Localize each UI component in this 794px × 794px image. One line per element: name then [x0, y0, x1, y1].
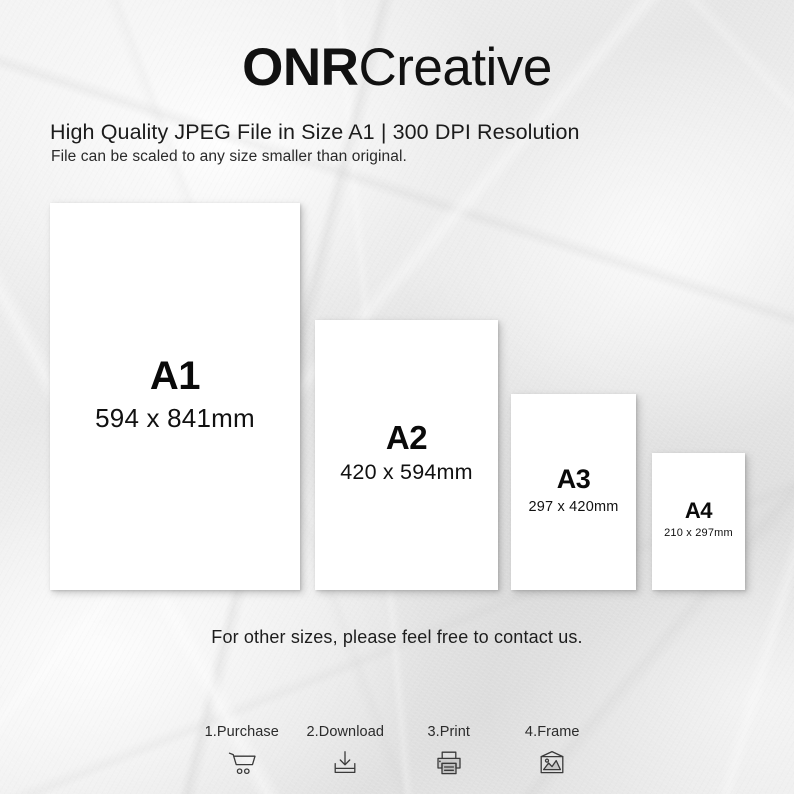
size-sheet-a1-labels: A1 594 x 841mm [95, 356, 255, 431]
brand-logo-light: Creative [358, 38, 551, 97]
size-sheet-a4-dims: 210 x 297mm [664, 528, 733, 539]
step-print: 3.Print [397, 723, 501, 778]
size-sheet-a2-name: A2 [386, 421, 427, 454]
size-sheet-a1: A1 594 x 841mm [50, 203, 300, 590]
download-tray-icon [328, 748, 362, 778]
contact-note: For other sizes, please feel free to con… [0, 625, 794, 649]
step-purchase: 1.Purchase [190, 723, 294, 778]
shopping-cart-icon [225, 748, 259, 778]
step-download: 2.Download [294, 723, 398, 778]
file-spec-headline: High Quality JPEG File in Size A1 | 300 … [50, 119, 580, 146]
framed-picture-icon [535, 748, 569, 778]
size-sheet-a1-dims: 594 x 841mm [95, 405, 255, 431]
step-purchase-label: 1.Purchase [205, 723, 279, 741]
steps-row: 1.Purchase 2.Download 3.P [190, 723, 604, 778]
printer-icon [432, 748, 466, 778]
size-sheet-a4-labels: A4 210 x 297mm [664, 500, 733, 539]
brand-logo-bold: ONR [242, 38, 358, 97]
size-sheet-a2: A2 420 x 594mm [315, 320, 498, 590]
size-sheet-a3-name: A3 [557, 466, 591, 493]
file-scale-note: File can be scaled to any size smaller t… [51, 146, 407, 167]
size-sheet-a1-name: A1 [150, 356, 200, 396]
size-sheet-a3-dims: 297 x 420mm [528, 500, 618, 515]
step-frame-label: 4.Frame [525, 723, 580, 741]
size-sheet-a3: A3 297 x 420mm [511, 394, 636, 590]
size-sheet-a4-name: A4 [685, 500, 712, 522]
size-sheet-a3-labels: A3 297 x 420mm [528, 466, 618, 515]
poster-canvas: ONRCreative High Quality JPEG File in Si… [0, 0, 794, 794]
size-sheet-a4: A4 210 x 297mm [652, 453, 745, 590]
size-sheet-a2-dims: 420 x 594mm [340, 462, 472, 484]
brand-logo: ONRCreative [0, 38, 794, 98]
step-download-label: 2.Download [306, 723, 384, 741]
size-sheet-a2-labels: A2 420 x 594mm [340, 421, 472, 484]
step-print-label: 3.Print [427, 723, 470, 741]
step-frame: 4.Frame [501, 723, 605, 778]
